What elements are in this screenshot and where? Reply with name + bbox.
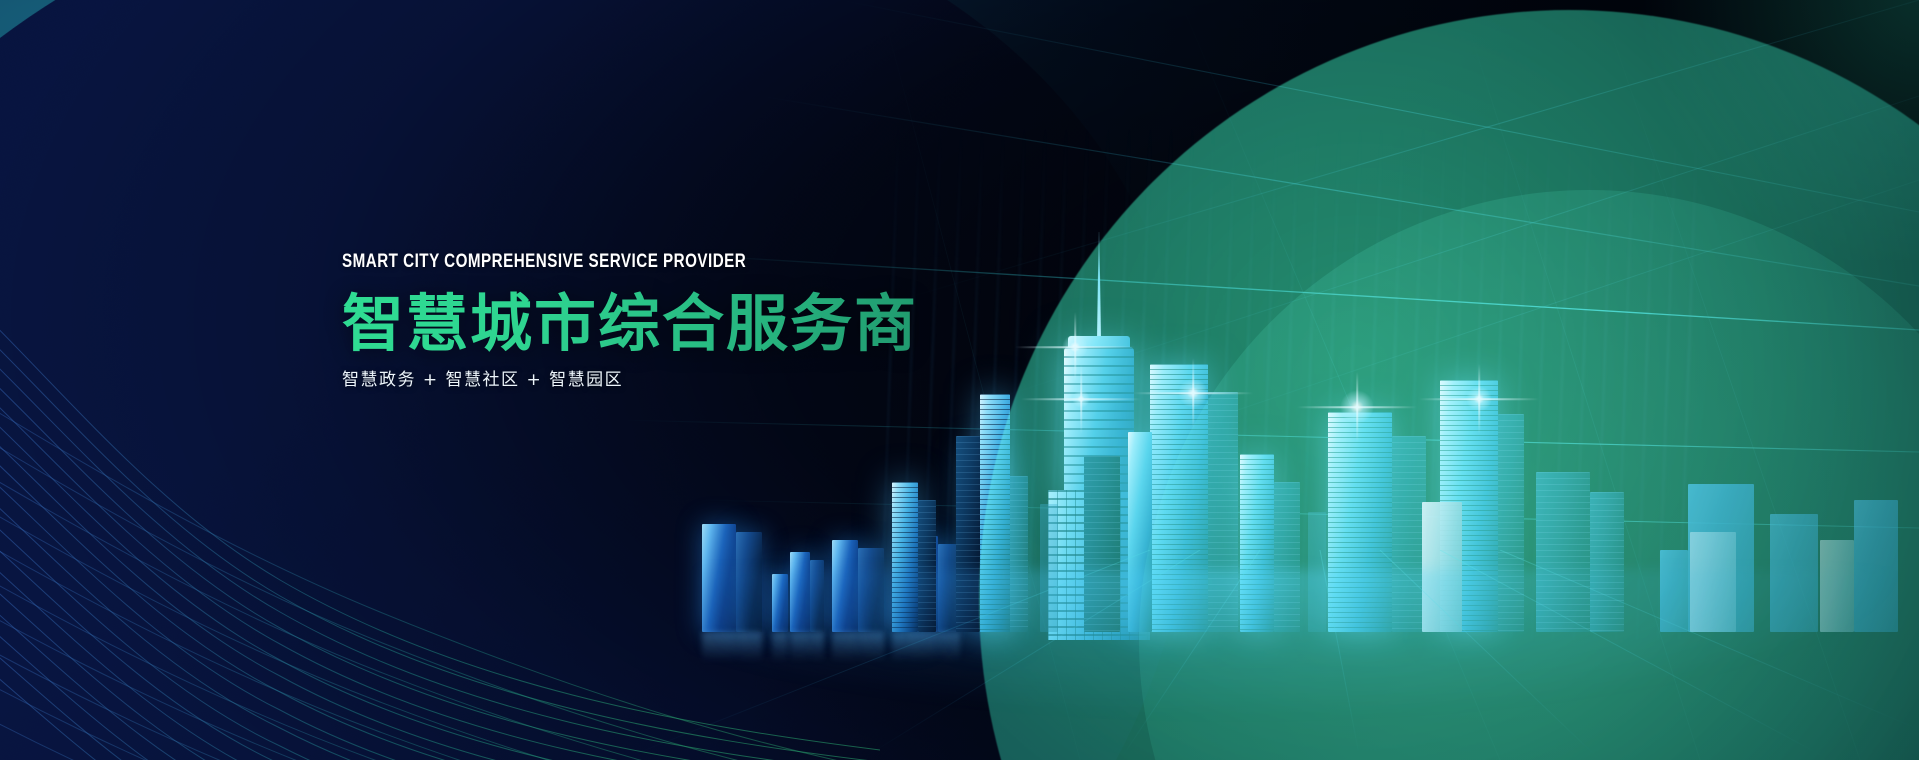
hero-banner: SMART CITY COMPREHENSIVE SERVICE PROVIDE… [0,0,1919,760]
hero-eyebrow: SMART CITY COMPREHENSIVE SERVICE PROVIDE… [342,252,950,271]
hero-subline: 智慧政务 + 智慧社区 + 智慧园区 [342,372,1102,389]
hero-headline: 智慧城市综合服务商 [342,291,1102,356]
hero-copy-block: SMART CITY COMPREHENSIVE SERVICE PROVIDE… [342,252,1102,389]
green-corner-glow [1619,0,1919,260]
